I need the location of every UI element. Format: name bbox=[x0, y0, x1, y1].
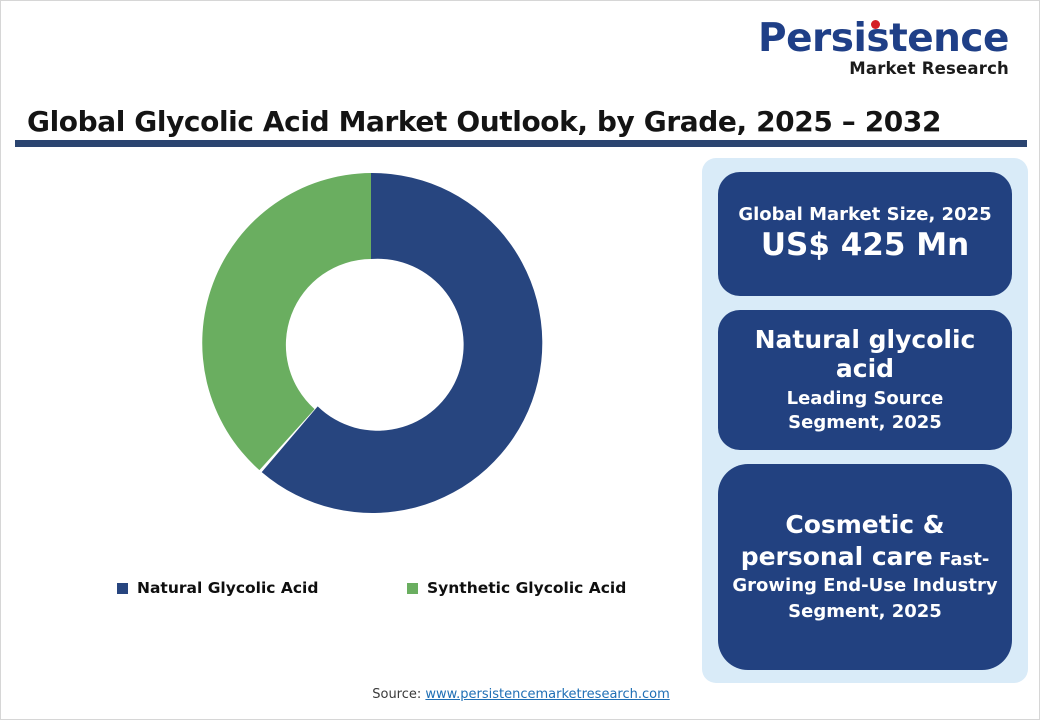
legend-swatch-icon bbox=[407, 583, 418, 594]
highlights-panel: Global Market Size, 2025 US$ 425 Mn Natu… bbox=[702, 158, 1028, 683]
highlight-card-leading-source-segment[interactable]: Natural glycolic acid Leading Source Seg… bbox=[718, 310, 1012, 450]
source-label: Source: bbox=[372, 687, 425, 702]
leading-source-segment-label-line1: Leading Source bbox=[787, 388, 944, 409]
brand-logo: Persistence Market Research bbox=[758, 19, 1009, 78]
donut-chart bbox=[196, 168, 546, 518]
legend-item-natural-glycolic-acid[interactable]: Natural Glycolic Acid bbox=[117, 579, 318, 597]
legend-swatch-icon bbox=[117, 583, 128, 594]
chart-legend: Natural Glycolic Acid Synthetic Glycolic… bbox=[111, 579, 671, 601]
highlight-card-market-size[interactable]: Global Market Size, 2025 US$ 425 Mn bbox=[718, 172, 1012, 296]
leading-source-segment-label-line2: Segment, 2025 bbox=[788, 412, 942, 433]
page-title: Global Glycolic Acid Market Outlook, by … bbox=[27, 105, 941, 138]
brand-logo-tagline: Market Research bbox=[758, 61, 1009, 78]
fast-growing-segment-text: Cosmetic & personal care Fast-Growing En… bbox=[732, 509, 998, 625]
legend-item-synthetic-glycolic-acid[interactable]: Synthetic Glycolic Acid bbox=[407, 579, 626, 597]
legend-item-label: Natural Glycolic Acid bbox=[137, 579, 318, 597]
fast-growing-segment-value: Cosmetic & personal care bbox=[741, 510, 945, 571]
highlight-card-fast-growing-segment[interactable]: Cosmetic & personal care Fast-Growing En… bbox=[718, 464, 1012, 670]
title-underline-rule bbox=[15, 140, 1027, 147]
market-size-label: Global Market Size, 2025 bbox=[738, 204, 991, 226]
source-line: Source: www.persistencemarketresearch.co… bbox=[1, 687, 1040, 702]
leading-source-segment-value: Natural glycolic acid bbox=[732, 326, 998, 384]
chart-area bbox=[1, 151, 691, 571]
legend-item-label: Synthetic Glycolic Acid bbox=[427, 579, 626, 597]
infographic-page: Persistence Market Research Global Glyco… bbox=[0, 0, 1040, 720]
fast-growing-segment-year: Segment, 2025 bbox=[788, 601, 942, 622]
brand-logo-wordmark: Persistence bbox=[758, 19, 1009, 58]
brand-logo-dot-icon bbox=[871, 20, 880, 29]
market-size-value: US$ 425 Mn bbox=[761, 228, 969, 264]
brand-logo-wordmark-text: Persistence bbox=[758, 16, 1009, 61]
source-link[interactable]: www.persistencemarketresearch.com bbox=[425, 687, 669, 702]
leading-source-segment-label: Leading Source Segment, 2025 bbox=[787, 387, 944, 434]
